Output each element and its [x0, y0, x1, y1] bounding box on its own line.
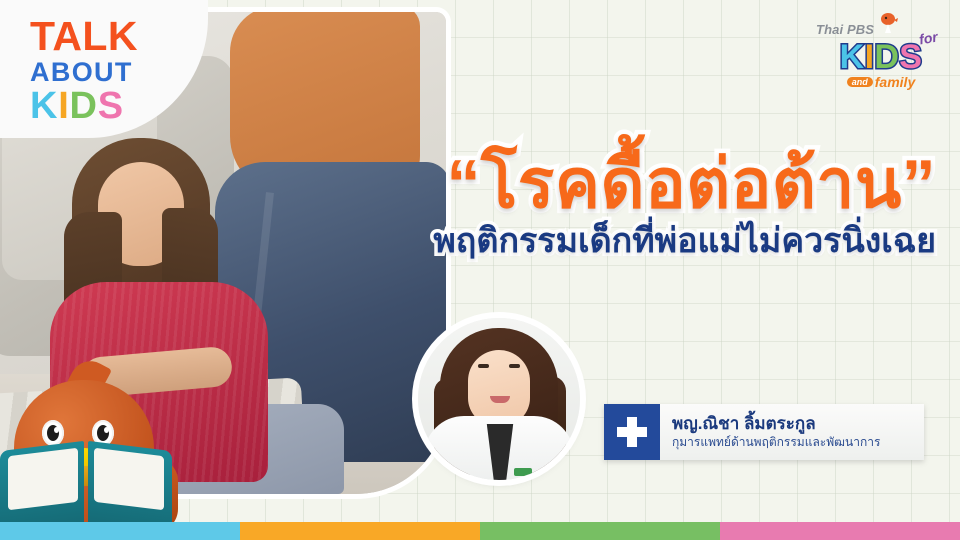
avatar-badge — [514, 468, 532, 476]
pbs-wordmark: Thai PBS — [816, 22, 874, 37]
medical-cross-icon — [604, 404, 660, 460]
avatar-eye-left — [478, 364, 489, 368]
footer-color-bar — [0, 522, 960, 540]
mascot-eye-left — [42, 420, 64, 446]
avatar-face — [468, 350, 530, 426]
title-block: “โรคดื้อต่อต้าน” พฤติกรรมเด็กที่พ่อแม่ไม… — [316, 150, 936, 261]
book-page-right — [94, 448, 164, 511]
speaker-name: พญ.ณิชา ลิ้มตระกูล — [672, 414, 880, 434]
pbs-and-family-text: andfamily — [810, 74, 952, 90]
thai-pbs-kids-logo: Thai PBS for KIDS andfamily — [810, 8, 952, 86]
page-subtitle: พฤติกรรมเด็กที่พ่อแม่ไม่ควรนิ่งเฉย — [316, 223, 936, 260]
talk-about-kids-logo: TALK ABOUT KIDS — [30, 16, 180, 125]
pbs-family-label: family — [875, 74, 915, 90]
speaker-avatar — [418, 318, 580, 480]
slide-canvas: TALK ABOUT KIDS Thai PBS for KIDS andfam… — [0, 0, 960, 540]
bird-mascot — [6, 354, 176, 540]
pbs-bird-icon — [878, 12, 898, 34]
cross-glyph — [617, 417, 647, 447]
speaker-text: พญ.ณิชา ลิ้มตระกูล กุมารแพทย์ด้านพฤติกรร… — [660, 414, 880, 451]
pbs-and-label: and — [847, 77, 873, 87]
page-title: “โรคดื้อต่อต้าน” — [316, 150, 936, 219]
book-page-left — [8, 448, 78, 511]
logo-line-kids: KIDS — [30, 87, 180, 125]
footer-segment-orange — [240, 522, 480, 540]
logo-line-talk: TALK — [30, 16, 180, 57]
speaker-role: กุมารแพทย์ด้านพฤติกรรมและพัฒนาการ — [672, 435, 880, 451]
logo-line-about: ABOUT — [30, 59, 180, 86]
pbs-kids-text: KIDS — [810, 38, 952, 77]
speaker-name-card: พญ.ณิชา ลิ้มตระกูล กุมารแพทย์ด้านพฤติกรร… — [604, 404, 924, 460]
footer-segment-cyan — [0, 522, 240, 540]
footer-segment-green — [480, 522, 720, 540]
avatar-eye-right — [509, 364, 520, 368]
footer-segment-pink — [720, 522, 960, 540]
